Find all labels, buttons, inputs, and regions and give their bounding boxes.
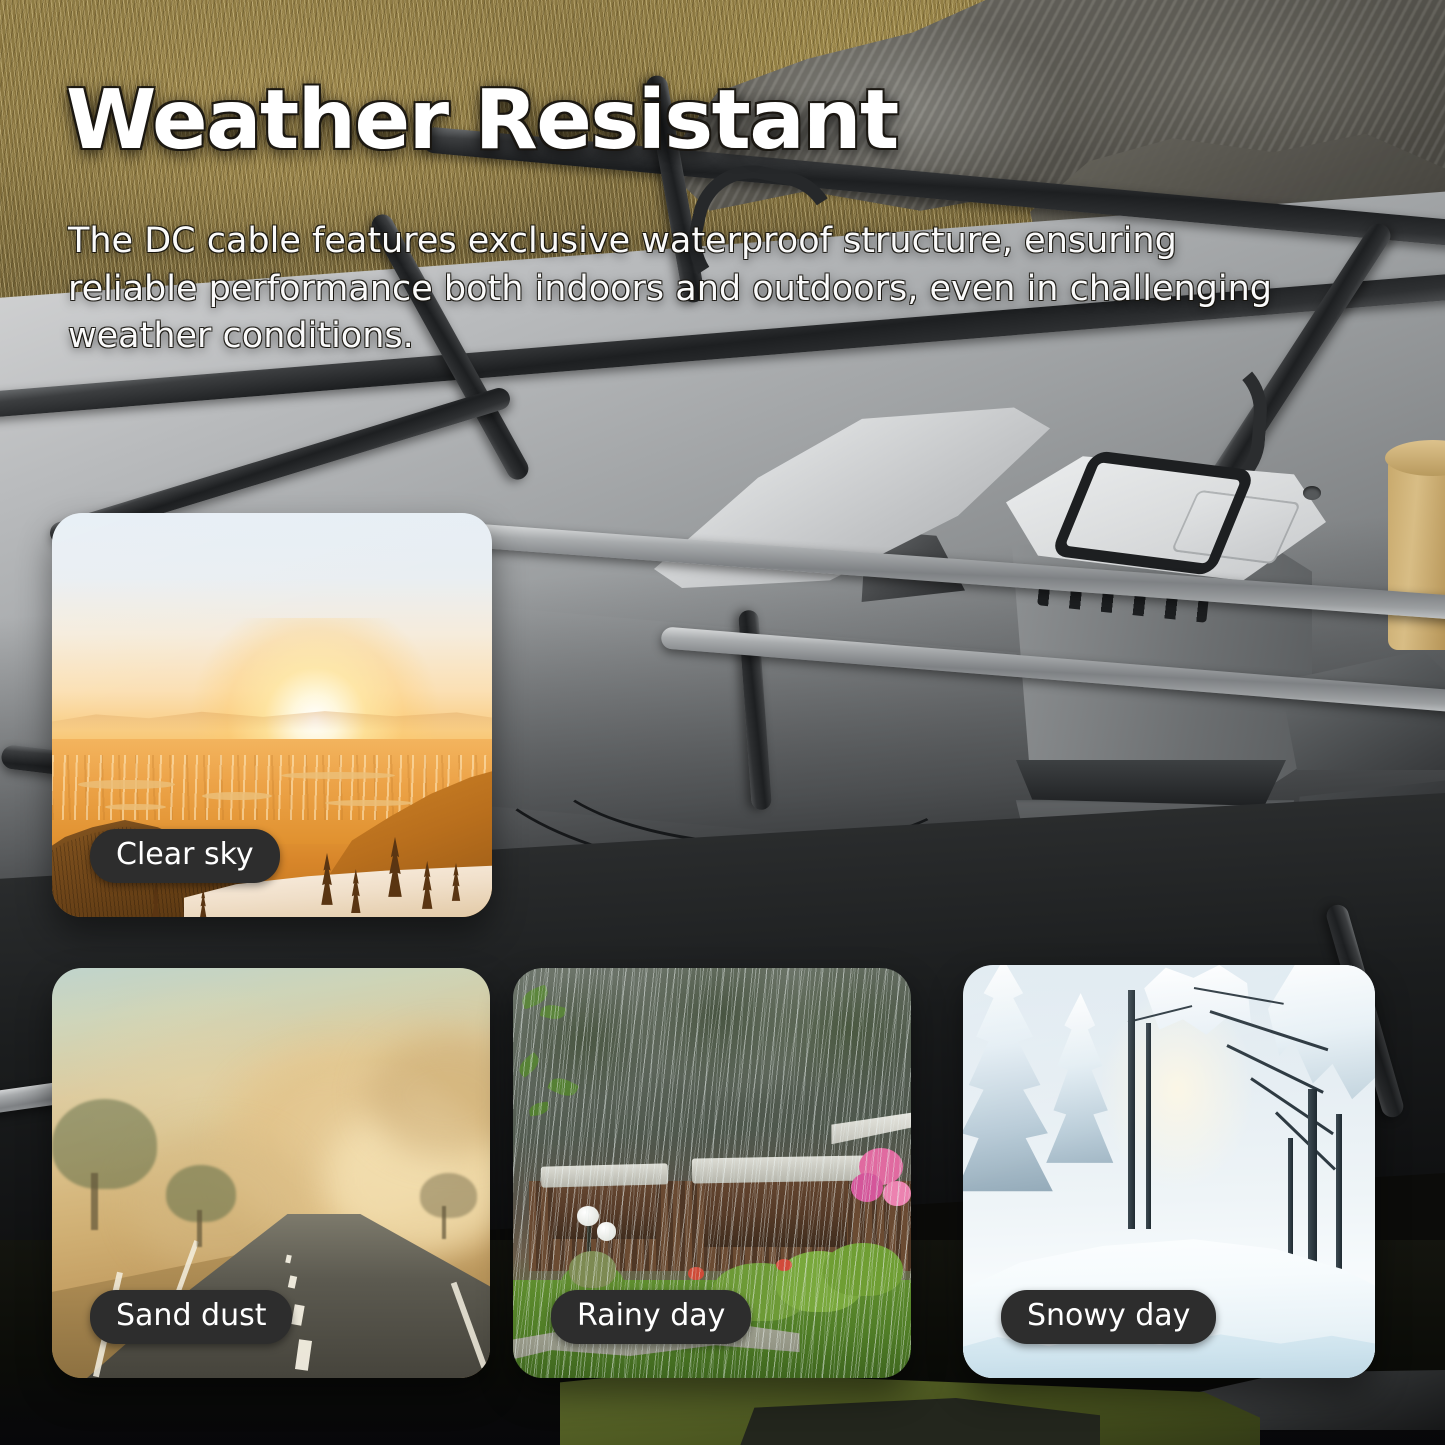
weather-card-clear-sky[interactable]: Clear sky — [52, 513, 492, 917]
khaki-container — [1388, 450, 1445, 650]
page-subtitle: The DC cable features exclusive waterpro… — [68, 218, 1298, 361]
weather-card-sand-dust[interactable]: Sand dust — [52, 968, 490, 1378]
power-station-screw-hole — [1303, 486, 1321, 500]
weather-card-rainy-day[interactable]: Rainy day — [513, 968, 911, 1378]
product-marketing-image: Weather Resistant The DC cable features … — [0, 0, 1445, 1445]
status-badge: Clear sky — [90, 829, 280, 883]
power-station-base — [1016, 760, 1286, 806]
status-badge: Snowy day — [1001, 1290, 1216, 1344]
page-title: Weather Resistant — [66, 80, 898, 162]
status-badge: Sand dust — [90, 1290, 292, 1344]
weather-card-snowy-day[interactable]: Snowy day — [963, 965, 1375, 1378]
status-badge: Rainy day — [551, 1290, 751, 1344]
